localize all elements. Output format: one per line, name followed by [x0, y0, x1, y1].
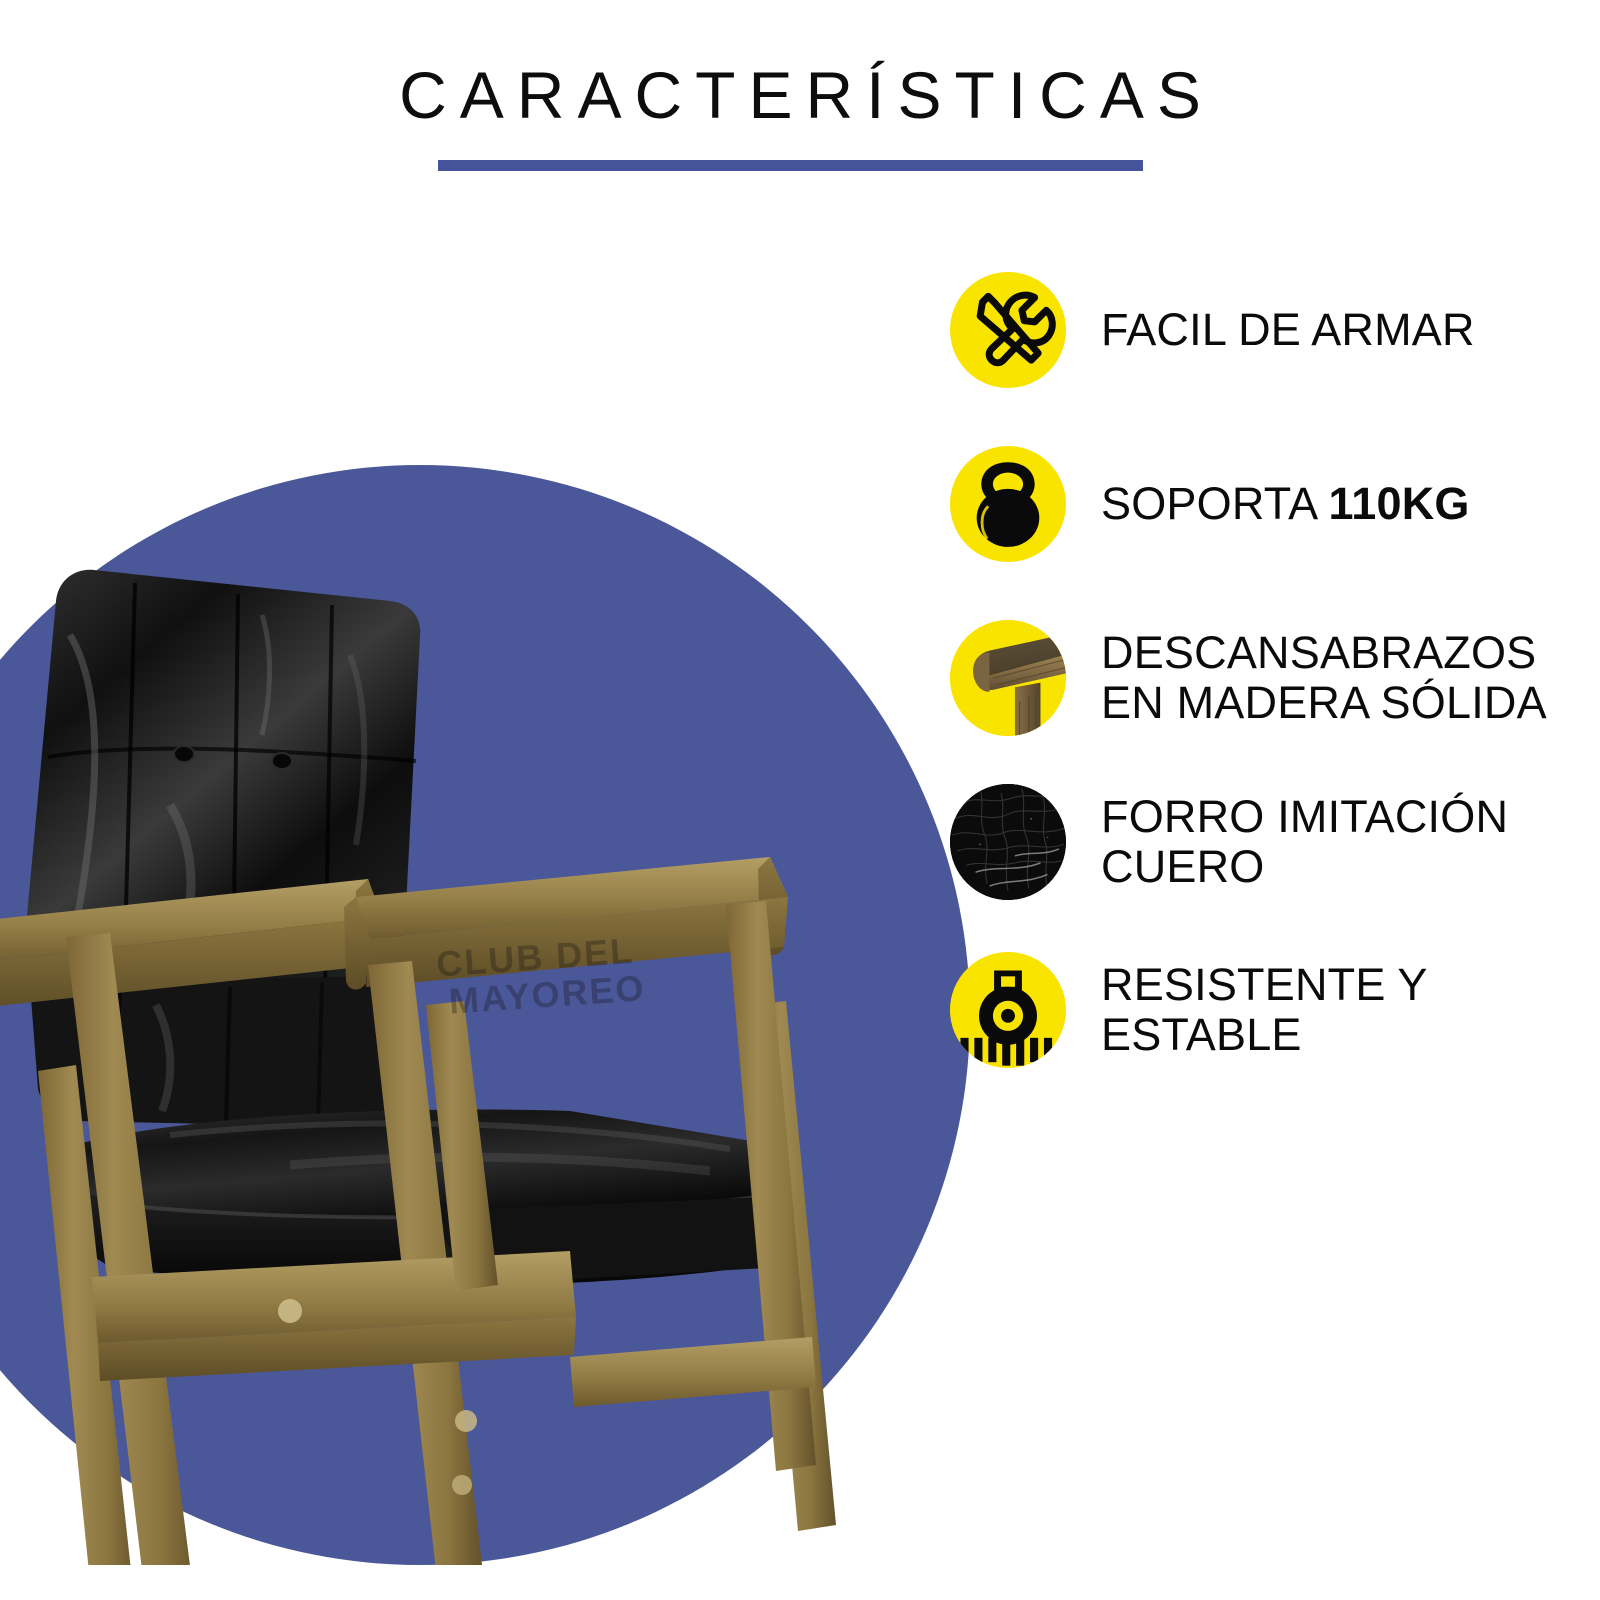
feature-label-resistente-y-estable: RESISTENTE Y ESTABLE	[1101, 960, 1428, 1061]
feature-badge-tools	[950, 272, 1066, 388]
feature-item-soporta-110kg: SOPORTA 110KG	[950, 446, 1570, 562]
feature-label-facil-de-armar: FACIL DE ARMAR	[1101, 305, 1475, 355]
feature-badge-wood-armrest	[950, 620, 1066, 736]
armchair-photo	[0, 405, 970, 1565]
kettlebell-icon	[950, 446, 1066, 562]
product-image-stage: CLUB DEL MAYOREO	[0, 465, 970, 1565]
feature-badge-kettlebell	[950, 446, 1066, 562]
title-underline-rule	[438, 160, 1143, 171]
wood-armrest-icon	[950, 620, 1066, 736]
feature-item-descansabrazos: DESCANSABRAZOS EN MADERA SÓLIDA	[950, 620, 1570, 736]
feature-item-forro-imitacion-cuero: FORRO IMITACIÓN CUERO	[950, 784, 1570, 900]
feature-label-forro-imitacion-cuero: FORRO IMITACIÓN CUERO	[1101, 792, 1508, 893]
feature-label-descansabrazos: DESCANSABRAZOS EN MADERA SÓLIDA	[1101, 628, 1547, 729]
feature-label-soporta-110kg: SOPORTA 110KG	[1101, 479, 1470, 529]
page-title: CARACTERÍSTICAS	[0, 62, 1600, 128]
header: CARACTERÍSTICAS	[0, 0, 1600, 200]
tools-icon	[950, 272, 1066, 388]
feature-item-facil-de-armar: FACIL DE ARMAR	[950, 272, 1570, 388]
leather-swatch-icon	[950, 784, 1066, 900]
feature-badge-stability	[950, 952, 1066, 1068]
stability-weight-icon	[950, 952, 1066, 1068]
feature-label-soporta-weight: 110KG	[1329, 478, 1470, 529]
feature-label-soporta-text: SOPORTA	[1101, 478, 1329, 529]
feature-item-resistente-y-estable: RESISTENTE Y ESTABLE	[950, 952, 1570, 1068]
feature-badge-leather	[950, 784, 1066, 900]
